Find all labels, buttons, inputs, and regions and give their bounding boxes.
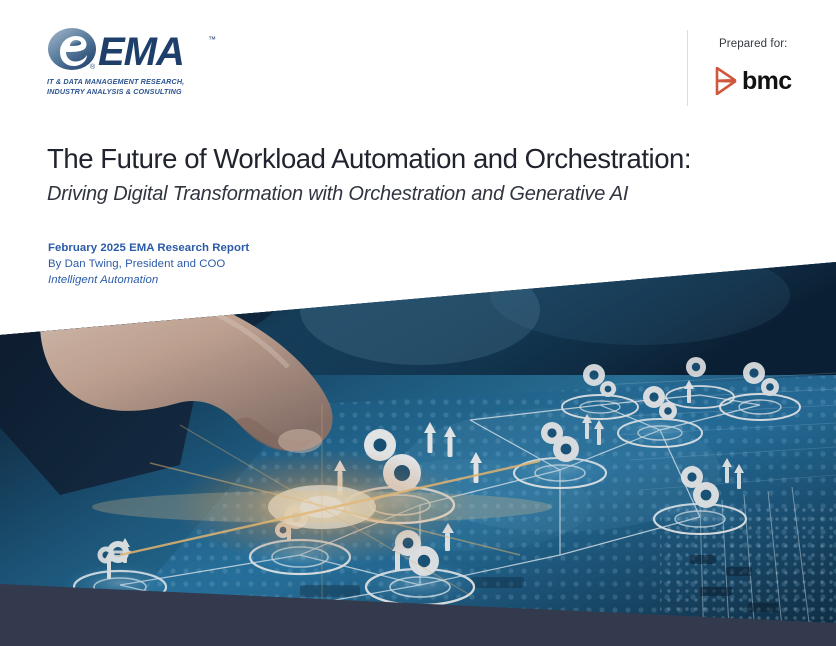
author-line: By Dan Twing, President and COO	[48, 256, 528, 272]
ema-emblem-icon: ®	[46, 27, 102, 77]
bmc-wordmark: bmc	[742, 66, 792, 96]
svg-text:®: ®	[90, 63, 96, 71]
bmc-chevron-mark-icon	[714, 67, 738, 95]
svg-text:EMA: EMA	[98, 30, 184, 74]
ema-wordmark: EMA ™	[98, 30, 226, 74]
bmc-logo: bmc	[714, 66, 792, 96]
report-date-line: February 2025 EMA Research Report	[48, 240, 528, 256]
page-header: ® EMA ™ IT & DATA MANAGEMENT RESEARCH, I…	[0, 0, 836, 118]
prepared-for-label: Prepared for:	[719, 38, 787, 50]
hero-illustration	[0, 255, 836, 646]
page-title: The Future of Workload Automation and Or…	[47, 141, 817, 177]
ema-logo: ® EMA ™ IT & DATA MANAGEMENT RESEARCH, I…	[46, 27, 226, 103]
ema-tagline: IT & DATA MANAGEMENT RESEARCH, INDUSTRY …	[47, 77, 227, 96]
header-divider	[687, 30, 688, 106]
ema-tagline-line2: INDUSTRY ANALYSIS & CONSULTING	[47, 87, 227, 97]
byline-block: February 2025 EMA Research Report By Dan…	[48, 240, 528, 288]
ema-tagline-line1: IT & DATA MANAGEMENT RESEARCH,	[47, 77, 227, 87]
hero-image-canvas	[0, 255, 836, 646]
practice-line: Intelligent Automation	[48, 272, 528, 288]
page-subtitle: Driving Digital Transformation with Orch…	[47, 180, 817, 208]
svg-text:™: ™	[208, 35, 216, 44]
report-cover-page: ® EMA ™ IT & DATA MANAGEMENT RESEARCH, I…	[0, 0, 836, 646]
